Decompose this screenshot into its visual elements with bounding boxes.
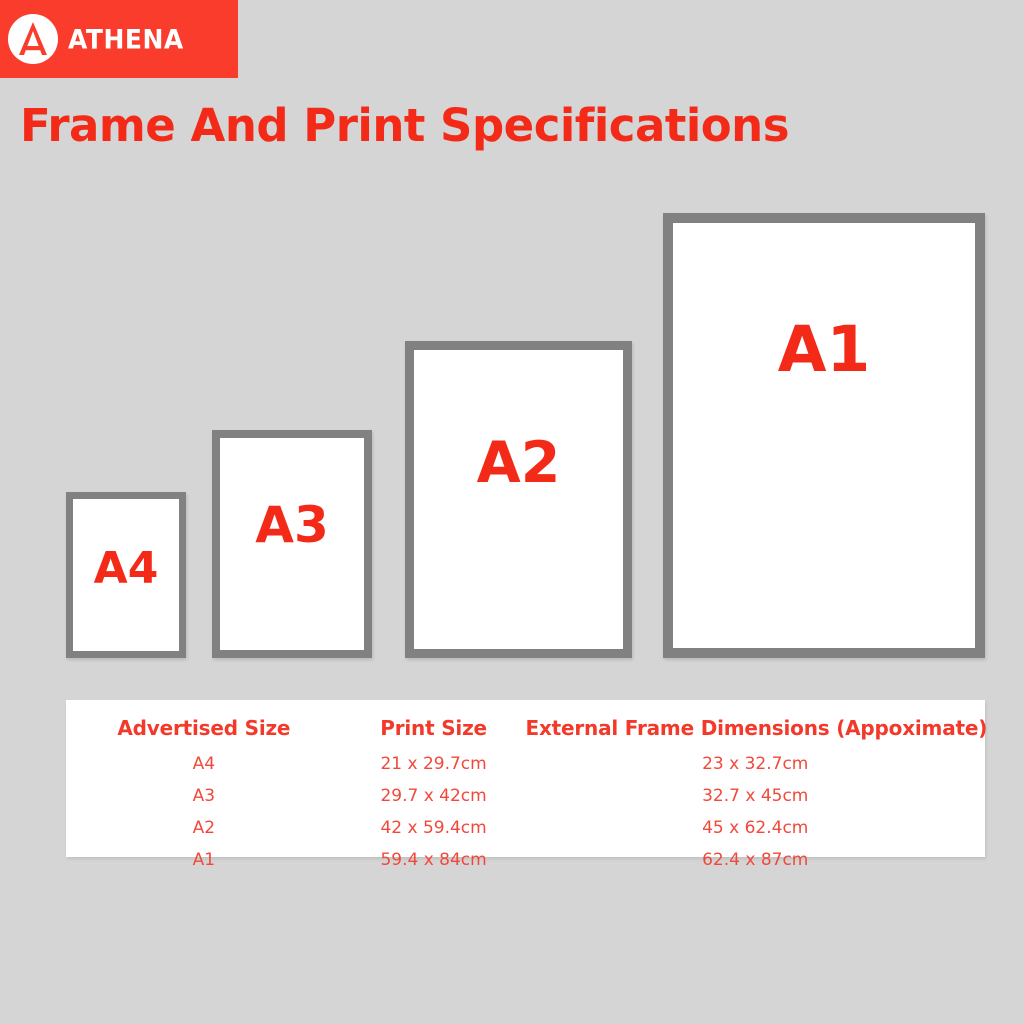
cell-print-size: 42 x 59.4cm (342, 812, 526, 844)
brand-bar: ATHENA (0, 0, 238, 78)
cell-external-frame: 32.7 x 45cm (525, 780, 985, 812)
frame-a4-label: A4 (73, 547, 179, 591)
table-row: A3 29.7 x 42cm 32.7 x 45cm (66, 780, 985, 812)
cell-advertised-size: A1 (66, 844, 342, 876)
column-header-advertised-size: Advertised Size (66, 700, 342, 748)
frame-a3-label: A3 (220, 500, 364, 550)
frame-a1: A1 (663, 213, 985, 658)
cell-print-size: 59.4 x 84cm (342, 844, 526, 876)
cell-print-size: 29.7 x 42cm (342, 780, 526, 812)
cell-advertised-size: A4 (66, 748, 342, 780)
frame-a2: A2 (405, 341, 632, 658)
brand-wordmark: ATHENA (68, 24, 184, 54)
frame-a2-label: A2 (414, 435, 623, 492)
frame-a1-label: A1 (673, 318, 975, 381)
cell-advertised-size: A3 (66, 780, 342, 812)
table-header-row: Advertised Size Print Size External Fram… (66, 700, 985, 748)
cell-print-size: 21 x 29.7cm (342, 748, 526, 780)
cell-advertised-size: A2 (66, 812, 342, 844)
table-row: A4 21 x 29.7cm 23 x 32.7cm (66, 748, 985, 780)
specifications-table: Advertised Size Print Size External Fram… (66, 700, 985, 857)
cell-external-frame: 62.4 x 87cm (525, 844, 985, 876)
frame-a3: A3 (212, 430, 372, 658)
page-title: Frame And Print Specifications (20, 99, 789, 152)
column-header-external-frame-dimensions: External Frame Dimensions (Appoximate) (525, 700, 985, 748)
athena-a-triangle-logo-icon (6, 12, 60, 66)
frame-a4: A4 (66, 492, 186, 658)
cell-external-frame: 23 x 32.7cm (525, 748, 985, 780)
table-row: A2 42 x 59.4cm 45 x 62.4cm (66, 812, 985, 844)
column-header-print-size: Print Size (342, 700, 526, 748)
cell-external-frame: 45 x 62.4cm (525, 812, 985, 844)
table-row: A1 59.4 x 84cm 62.4 x 87cm (66, 844, 985, 876)
